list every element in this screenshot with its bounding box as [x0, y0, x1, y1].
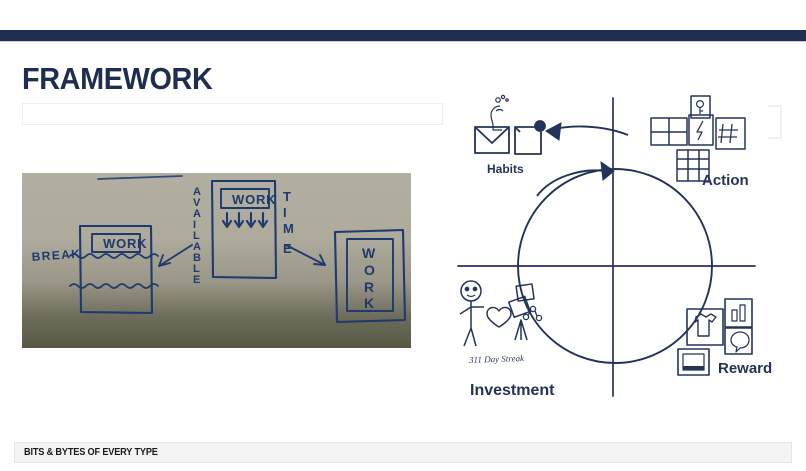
hashtag-icon [716, 118, 745, 149]
investment-icon-group [460, 281, 542, 346]
quadrant-label-reward: Reward [718, 360, 772, 377]
svg-text:WORK: WORK [103, 236, 147, 251]
keypad-grid-icon [651, 118, 687, 145]
svg-text:E: E [193, 274, 201, 286]
svg-text:W: W [362, 245, 376, 261]
loop-arrow [537, 162, 614, 196]
svg-text:E: E [283, 241, 292, 256]
quadrant-label-action: Action [702, 172, 749, 189]
trophy-icon [515, 320, 527, 340]
stick-figure-icon [460, 281, 484, 346]
top-hairline-divider [0, 41, 806, 42]
card-icon [678, 349, 709, 375]
lightning-icon [689, 115, 713, 145]
top-accent-bar [0, 30, 806, 41]
tshirt-icon [687, 309, 723, 345]
heart-icon [487, 307, 511, 327]
footer-bar: BITS & BYTES OF EVERY TYPE [14, 442, 792, 463]
slide-canvas: FRAMEWORK [0, 0, 806, 471]
svg-text:O: O [364, 262, 375, 278]
quadrant-label-investment: Investment [470, 382, 554, 400]
habits-icon-group [475, 95, 545, 154]
svg-text:BREAK: BREAK [31, 247, 82, 264]
svg-text:T: T [283, 189, 291, 204]
page-title: FRAMEWORK [22, 62, 212, 96]
thinking-head-icon [491, 95, 508, 130]
svg-text:K: K [364, 295, 375, 311]
svg-text:M: M [283, 221, 294, 236]
notebook-sketch-photo: BREAK WORK WORK AVA ILA BLE TI ME WO RK [22, 173, 411, 348]
svg-text:WORK: WORK [232, 192, 276, 207]
svg-text:I: I [283, 205, 287, 220]
trigger-arrow [546, 123, 628, 140]
notification-badge-icon [515, 121, 545, 154]
speech-bubble-icon [725, 328, 752, 354]
subtitle-placeholder-box[interactable] [22, 103, 443, 125]
svg-text:R: R [364, 279, 375, 295]
streak-annotation: 311 Day Streak [469, 353, 524, 365]
subtitle-text [23, 104, 442, 112]
bar-chart-icon [725, 299, 752, 327]
action-icon-group [651, 96, 745, 181]
footer-text: BITS & BYTES OF EVERY TYPE [24, 447, 158, 458]
quadrant-label-habits: Habits [487, 162, 524, 176]
envelope-icon [475, 127, 509, 153]
